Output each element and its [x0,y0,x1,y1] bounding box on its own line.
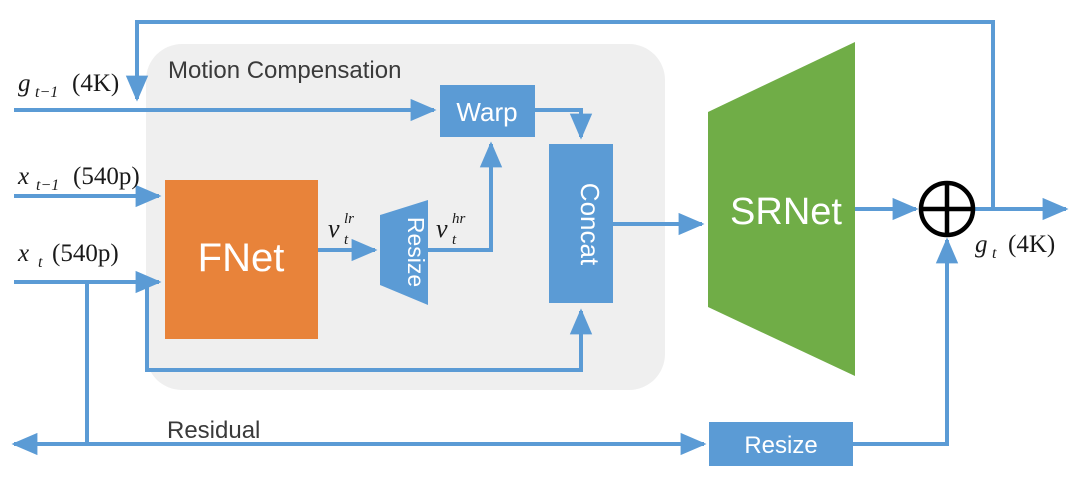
block-resize-hr-label: Resize [744,432,817,459]
signal-g-cur-paren: (4K) [1008,231,1055,258]
edge-resize-hr-to-add [853,240,947,444]
signal-x-prev-sub: t−1 [36,177,59,194]
edge-xcur-to-residual [14,282,87,444]
motion-compensation-label: Motion Compensation [168,57,401,84]
block-warp-label: Warp [456,97,517,127]
diagram-canvas: FNet Resize Warp Concat SRNet Resize [0,0,1080,489]
signal-g-prev-var: g [18,70,31,97]
signal-g-cur-sub: t [992,245,997,262]
block-fnet-label: FNet [198,236,285,280]
signal-g-cur: g t (4K) [975,231,1055,262]
block-concat[interactable]: Concat [549,144,613,303]
architecture-diagram: FNet Resize Warp Concat SRNet Resize [0,0,1080,489]
signal-x-cur-sub: t [38,254,43,271]
signal-x-prev: x t−1 (540p) [17,163,140,194]
block-warp[interactable]: Warp [440,85,535,137]
signal-g-prev-sub: t−1 [35,84,58,101]
block-srnet-label: SRNet [730,191,842,233]
block-fnet[interactable]: FNet [165,180,318,339]
signal-x-cur: x t (540p) [17,240,119,271]
signal-v-hr-var: v [436,214,448,243]
block-resize-hr[interactable]: Resize [709,422,853,466]
signal-x-cur-var: x [17,240,29,267]
signal-x-cur-paren: (540p) [52,240,119,267]
signal-g-cur-var: g [975,231,988,258]
signal-v-hr-sup: hr [452,211,466,227]
signal-v-lr-var: v [328,214,340,243]
block-resize-lr-label: Resize [403,217,429,287]
signal-x-prev-paren: (540p) [73,163,140,190]
operator-add[interactable] [921,183,973,235]
block-srnet[interactable]: SRNet [708,42,855,376]
signal-g-prev-paren: (4K) [72,70,119,97]
block-concat-label: Concat [575,183,605,266]
signal-v-lr-sup: lr [344,211,354,227]
signal-g-prev: g t−1 (4K) [18,70,119,101]
residual-label: Residual [167,417,260,444]
signal-x-prev-var: x [17,163,29,190]
